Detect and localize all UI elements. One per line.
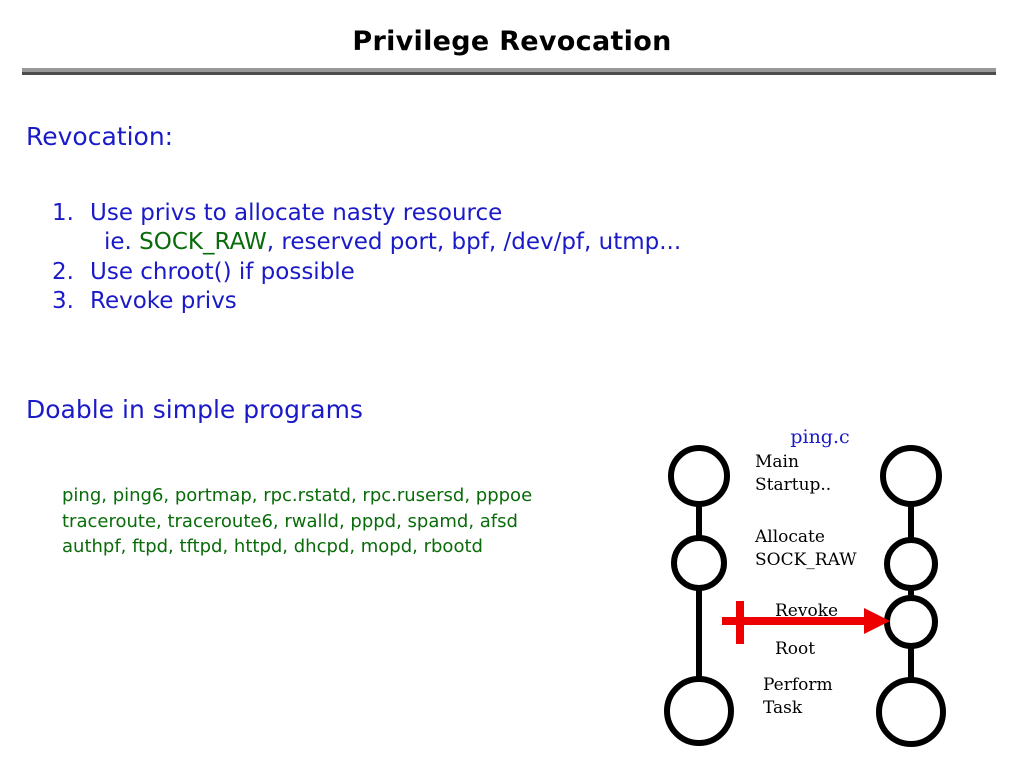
right-circle-revoked <box>887 598 935 646</box>
diagram-label-root: Root <box>775 638 815 661</box>
diagram-title: ping.c <box>760 426 880 448</box>
diagram-label-allocate-sockraw: Allocate SOCK_RAW <box>755 526 857 572</box>
diagram-label-revoke: Revoke <box>775 600 838 623</box>
substep-keyword: SOCK_RAW <box>139 229 267 255</box>
substep-suffix: , reserved port, bpf, /dev/pf, utmp... <box>267 229 681 255</box>
diagram-label-main-startup: Main Startup.. <box>755 451 831 497</box>
diagram-label-allocate: Allocate <box>755 526 857 549</box>
list-item-label: Revoke privs <box>90 287 237 316</box>
program-list-line: ping, ping6, portmap, rpc.rstatd, rpc.ru… <box>62 483 682 509</box>
list-item-number: 3. <box>52 287 90 316</box>
right-circle-main-startup <box>883 448 939 504</box>
title-divider <box>22 68 996 75</box>
ping-process-diagram: ping.c Main Startup.. Allocate SOCK_RAW … <box>650 418 1000 763</box>
list-item-number: 2. <box>52 258 90 287</box>
diagram-label-perform: Perform <box>763 674 833 697</box>
page-title: Privilege Revocation <box>0 26 1024 57</box>
revocation-steps-list: 1. Use privs to allocate nasty resource … <box>52 199 912 317</box>
slide-canvas: Privilege Revocation Revocation: 1. Use … <box>0 0 1024 768</box>
diagram-label-task: Task <box>763 697 833 720</box>
program-list: ping, ping6, portmap, rpc.rstatd, rpc.ru… <box>62 483 682 560</box>
diagram-label-startup: Startup.. <box>755 474 831 497</box>
list-item-label: Use chroot() if possible <box>90 258 355 287</box>
left-circle-perform-task <box>667 679 731 743</box>
substep-line: ie. SOCK_RAW, reserved port, bpf, /dev/p… <box>52 228 912 257</box>
revocation-heading: Revocation: <box>26 122 173 151</box>
left-circle-main-startup <box>671 448 727 504</box>
program-list-line: authpf, ftpd, tftpd, httpd, dhcpd, mopd,… <box>62 534 682 560</box>
diagram-label-perform-task: Perform Task <box>763 674 833 720</box>
right-circle-allocate <box>887 540 935 588</box>
substep-prefix: ie. <box>104 229 139 255</box>
right-circle-perform-task <box>879 680 943 744</box>
program-list-line: traceroute, traceroute6, rwalld, pppd, s… <box>62 509 682 535</box>
list-item: 1. Use privs to allocate nasty resource <box>52 199 912 228</box>
list-item-label: Use privs to allocate nasty resource <box>90 199 502 228</box>
list-item-number: 1. <box>52 199 90 228</box>
list-item: 2. Use chroot() if possible <box>52 258 912 287</box>
diagram-label-sock-raw: SOCK_RAW <box>755 549 857 572</box>
left-circle-allocate <box>674 538 724 588</box>
doable-heading: Doable in simple programs <box>26 395 363 424</box>
list-item: 3. Revoke privs <box>52 287 912 316</box>
diagram-label-main: Main <box>755 451 831 474</box>
